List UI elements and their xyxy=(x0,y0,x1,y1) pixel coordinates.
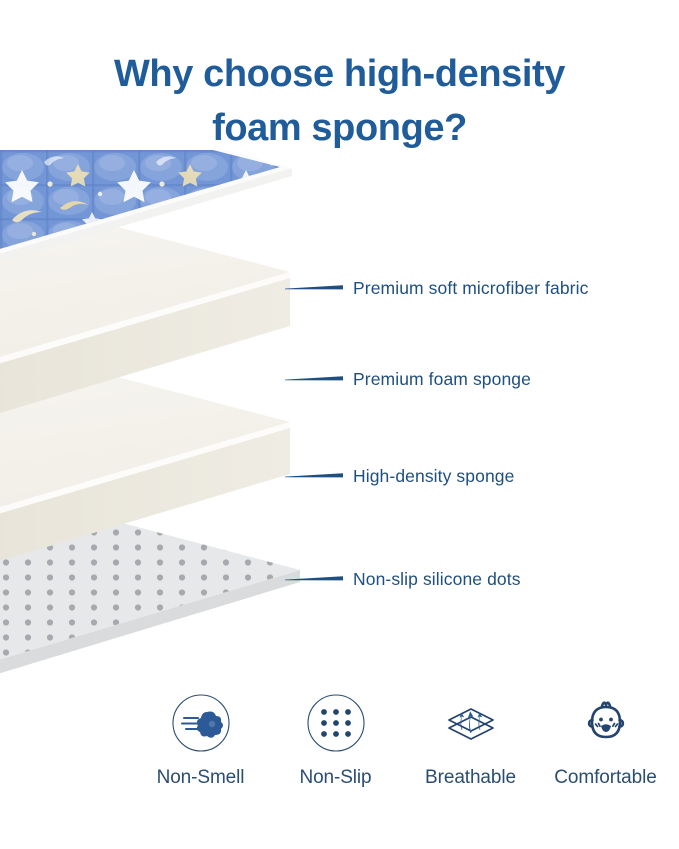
callout-label: Premium foam sponge xyxy=(353,369,531,390)
feature-label: Breathable xyxy=(425,767,516,789)
page-title-line-2: foam sponge? xyxy=(0,102,679,156)
airflow-layers-icon xyxy=(440,692,502,754)
baby-face-icon xyxy=(575,692,637,754)
feature-label: Non-Smell xyxy=(157,767,245,789)
feature-non-smell: Non-Smell xyxy=(138,692,263,789)
callout-label: Premium soft microfiber fabric xyxy=(353,278,588,299)
feature-label: Non-Slip xyxy=(299,767,371,789)
callout-non-slip-silicone-dots: Non-slip silicone dots xyxy=(285,566,521,592)
feature-label: Comfortable xyxy=(554,767,656,789)
dot-grid-icon xyxy=(305,692,367,754)
page-title-line-1: Why choose high-density xyxy=(0,48,679,102)
odor-waves-icon xyxy=(170,692,232,754)
leader-line-icon xyxy=(285,374,343,384)
feature-comfortable: Comfortable xyxy=(543,692,668,789)
callout-high-density-sponge: High-density sponge xyxy=(285,463,514,489)
leader-line-icon xyxy=(285,574,343,584)
callout-label: High-density sponge xyxy=(353,466,514,487)
callout-premium-foam-sponge: Premium foam sponge xyxy=(285,366,531,392)
leader-line-icon xyxy=(285,283,343,293)
callout-premium-soft-microfiber-fabric: Premium soft microfiber fabric xyxy=(285,275,588,301)
page-title: Why choose high-density foam sponge? xyxy=(0,48,679,156)
feature-row: Non-Smell Non-Slip xyxy=(138,692,668,789)
callout-label: Non-slip silicone dots xyxy=(353,569,521,590)
feature-non-slip: Non-Slip xyxy=(273,692,398,789)
feature-breathable: Breathable xyxy=(408,692,533,789)
exploded-mattress-illustration xyxy=(0,150,460,690)
infographic-page: Why choose high-density foam sponge? xyxy=(0,0,679,849)
leader-line-icon xyxy=(285,471,343,481)
